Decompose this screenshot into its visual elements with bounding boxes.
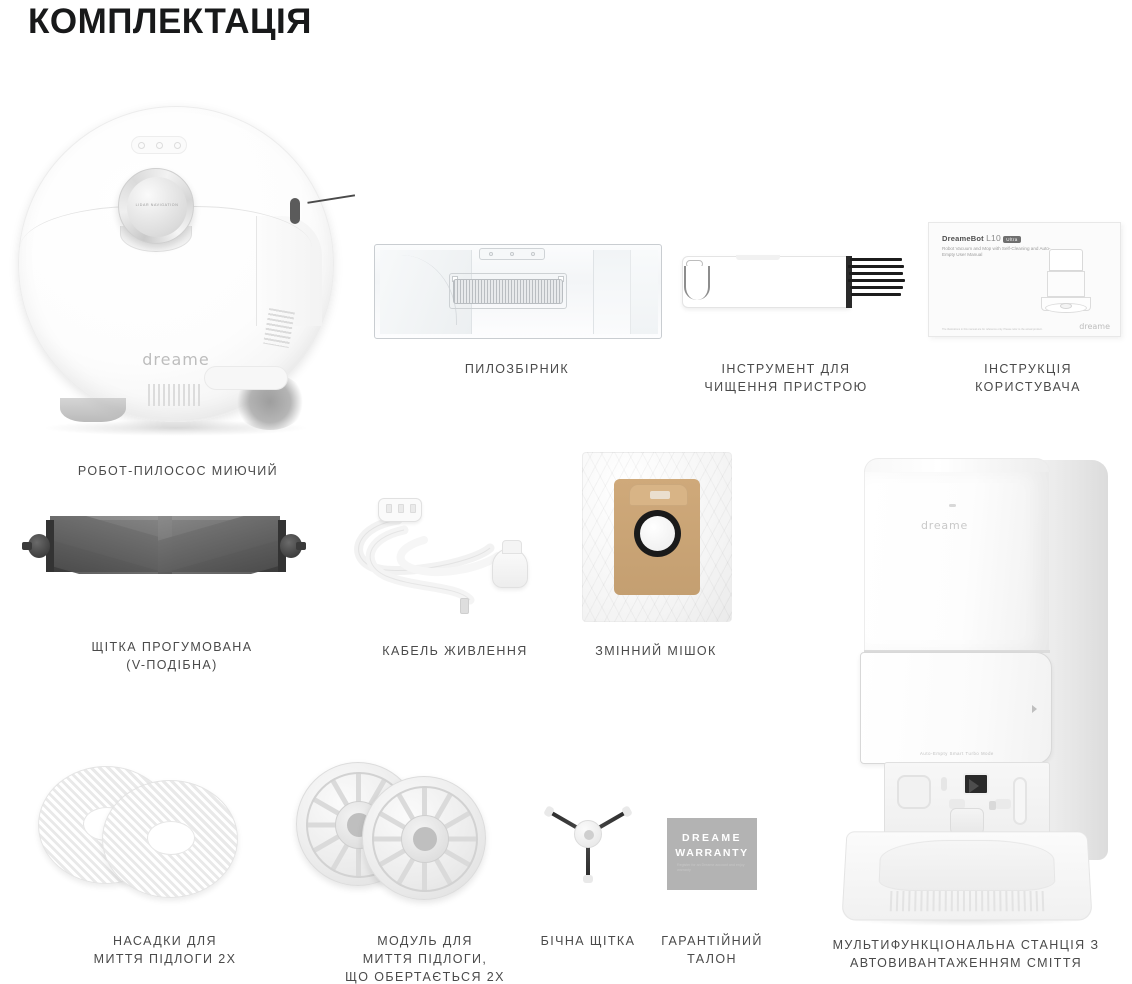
manual-brand-logo: dreame [1079, 322, 1110, 331]
station-clip [941, 777, 947, 791]
c13-connector-icon [378, 498, 422, 522]
product-contents-page: КОМПЛЕКТАЦІЯ LIDAR NAVIGATION dreame РОБ… [0, 0, 1132, 984]
plug-prong [460, 598, 469, 614]
roller-end-left [22, 532, 52, 560]
dust-bag-illustration [582, 452, 732, 624]
caption-warranty-card: ГАРАНТІЙНИЙ ТАЛОН [650, 932, 774, 968]
blade-icon [684, 266, 710, 300]
caption-mop-pads: НАСАДКИ ДЛЯ МИТТЯ ПІДЛОГИ 2Х [40, 932, 290, 968]
euro-plug-icon [492, 548, 528, 588]
mop-pad-icon [102, 780, 238, 898]
side-brush-hub [574, 820, 602, 848]
roller-pin [296, 542, 306, 550]
bristle [848, 279, 905, 282]
c13-pin [398, 504, 404, 513]
manual-cover-subtitle: Robot Vacuum and Mop with Self-Cleaning … [942, 246, 1052, 258]
warranty-card-illustration: DREAME WARRANTY Register for an Dreame a… [667, 818, 757, 892]
robot-wheel [60, 398, 126, 422]
auto-empty-station-illustration: dreame Auto-Empty Smart Turbo Mode [842, 452, 1132, 922]
bin-handle-dot [510, 252, 514, 256]
dust-bin-icon [374, 244, 662, 339]
spot-button-icon [138, 142, 145, 149]
station-ramp-ridges [890, 891, 1049, 911]
charging-contacts-icon [995, 799, 1011, 809]
station-alignment-pin [989, 801, 996, 810]
caption-robot-vacuum: РОБОТ-ПИЛОСОС МИЮЧИЙ [28, 462, 328, 480]
roller-brush-vee-pattern [50, 516, 280, 574]
mop-pads-illustration [24, 762, 304, 907]
caption-side-brush: БІЧНА ЩІТКА [524, 932, 652, 950]
station-side-wall [1042, 460, 1108, 860]
spin-mop-module-icon [362, 776, 486, 900]
dust-bag-tab-label [650, 491, 670, 499]
robot-button-panel [131, 136, 187, 154]
robot-bottom-vent [148, 384, 202, 406]
roller-brush-illustration [12, 498, 312, 594]
caption-dust-bin: ПИЛОЗБІРНИК [396, 360, 638, 378]
robot-front-bumper-pad [204, 366, 288, 390]
warranty-fine-print: Register for an Dreame account and enjoy… [677, 863, 747, 873]
power-cable-icon [340, 490, 570, 620]
bristle [850, 258, 902, 261]
robot-brand-logo: dreame [8, 350, 344, 369]
caption-dust-bag: ЗМІННИЙ МІШОК [570, 642, 742, 660]
c13-pin [386, 504, 392, 513]
manual-badge: Ultra [1003, 236, 1021, 243]
dust-bin-illustration [374, 244, 662, 344]
bin-handle-dot [489, 252, 493, 256]
caption-auto-empty-station: МУЛЬТИФУНКЦІОНАЛЬНА СТАНЦІЯ З АВТОВИВАНТ… [800, 936, 1132, 972]
bin-handle-icon [479, 248, 545, 260]
manual-model: L10 [986, 233, 1001, 243]
caption-spin-mop-modules: МОДУЛЬ ДЛЯ МИТТЯ ПІДЛОГИ, ЩО ОБЕРТАЄТЬСЯ… [300, 932, 550, 984]
bristle [850, 286, 903, 289]
manual-art-station-door [1047, 271, 1085, 297]
station-left-port [897, 775, 931, 809]
manual-brand: DreameBot [942, 234, 984, 243]
dust-bag-inlet [640, 516, 675, 551]
robot-wall-sensor-icon [290, 198, 300, 224]
side-brush-illustration [548, 776, 628, 896]
tool-notch [736, 255, 780, 260]
manual-cover: DreameBot L10 Ultra Robot Vacuum and Mop… [928, 222, 1121, 337]
station-right-slot [1013, 777, 1027, 825]
warranty-title: WARRANTY [667, 847, 757, 859]
cleaning-tool-illustration [674, 248, 904, 343]
home-button-icon [174, 142, 181, 149]
bin-far-right-chamber [631, 250, 658, 334]
roller-end-right [274, 532, 304, 560]
bin-right-chamber [593, 250, 631, 334]
station-ramp-recess [878, 840, 1055, 891]
station-icon: dreame [864, 472, 1050, 652]
manual-art-station-top [1049, 249, 1083, 271]
caption-power-cable: КАБЕЛЬ ЖИВЛЕННЯ [340, 642, 570, 660]
tool-bristles [848, 258, 906, 306]
power-cable-illustration [340, 490, 570, 620]
spin-mop-center [413, 827, 437, 851]
dock-camera-icon [963, 773, 989, 795]
manual-fine-print: The illustrations in this manual are for… [942, 328, 1062, 331]
lidar-turret-icon: LIDAR NAVIGATION [118, 168, 194, 244]
station-door-label: Auto-Empty Smart Turbo Mode [861, 751, 1053, 756]
station-dustbag-door: Auto-Empty Smart Turbo Mode [860, 652, 1052, 764]
bin-handle-dot [531, 252, 535, 256]
caption-roller-brush: ЩІТКА ПРОГУМОВАНА (V-ПОДІБНА) [22, 638, 322, 674]
bristle [851, 293, 901, 296]
chevron-right-icon [1032, 705, 1037, 713]
page-title: КОМПЛЕКТАЦІЯ [28, 2, 312, 42]
filter-grid-icon [453, 279, 563, 304]
power-button-icon [156, 142, 163, 149]
caption-cleaning-tool: ІНСТРУМЕНТ ДЛЯ ЧИЩЕННЯ ПРИСТРОЮ [665, 360, 907, 396]
warranty-card: DREAME WARRANTY Register for an Dreame a… [667, 818, 757, 890]
station-indicator-light [949, 504, 956, 507]
warranty-brand: DREAME [667, 832, 757, 844]
lidar-label: LIDAR NAVIGATION [119, 203, 195, 207]
caption-user-manual: ІНСТРУКЦІЯ КОРИСТУВАЧА [930, 360, 1126, 396]
c13-pin [410, 504, 416, 513]
roller-pin [22, 542, 32, 550]
dust-bag-tab [629, 484, 688, 506]
bristle [848, 265, 904, 268]
bristle [849, 272, 903, 275]
mop-pad-opening [147, 821, 195, 855]
station-brand-logo: dreame [921, 519, 968, 532]
manual-cover-title: DreameBot L10 Ultra [942, 233, 1021, 243]
robot-vacuum-illustration: LIDAR NAVIGATION dreame [8, 98, 348, 448]
spin-mop-modules-illustration [288, 756, 548, 906]
manual-art-robot-lidar [1060, 303, 1072, 309]
station-ramp [841, 831, 1092, 920]
user-manual-illustration: DreameBot L10 Ultra Robot Vacuum and Mop… [928, 222, 1124, 340]
